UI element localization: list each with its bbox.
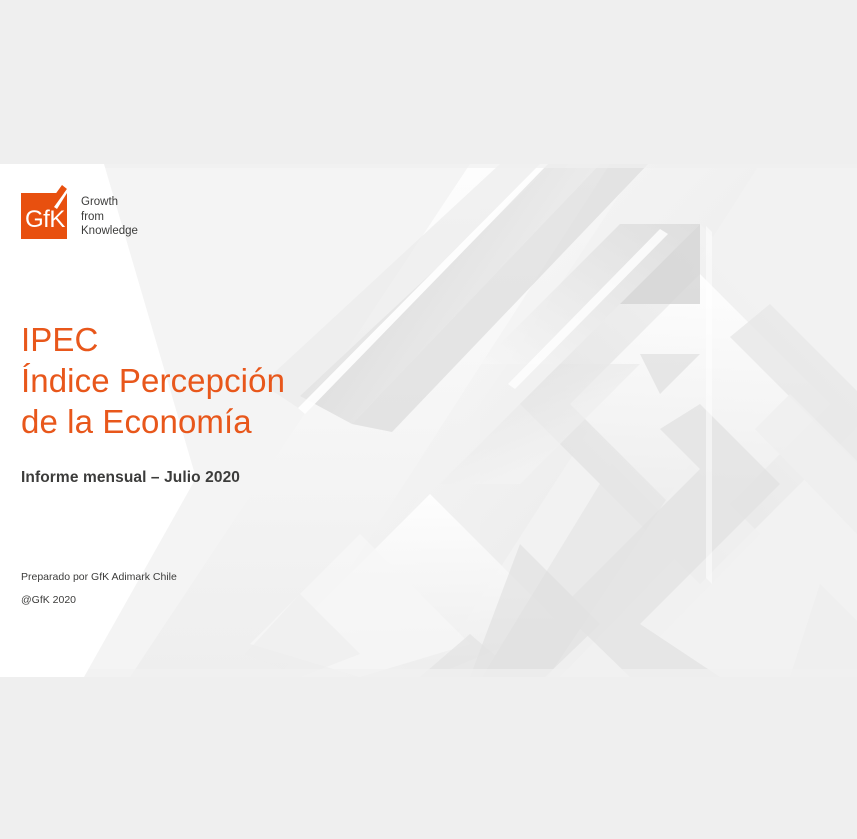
copyright-line: @GfK 2020 — [21, 589, 177, 612]
credits-block: Preparado por GfK Adimark Chile @GfK 202… — [21, 566, 177, 612]
svg-text:GfK: GfK — [25, 206, 65, 233]
gfk-claim-text: Growth from Knowledge — [81, 195, 138, 239]
gfk-logo: GfK Growth from Knowledge — [21, 193, 138, 241]
report-subtitle: Informe mensual – Julio 2020 — [21, 469, 240, 487]
title-line-1: IPEC — [21, 319, 341, 360]
slide-content: GfK Growth from Knowledge IPEC Índice Pe… — [21, 164, 341, 677]
prepared-by-line: Preparado por GfK Adimark Chile — [21, 566, 177, 589]
page-title: IPEC Índice Percepción de la Economía — [21, 319, 341, 442]
page-canvas: GfK Growth from Knowledge IPEC Índice Pe… — [0, 0, 857, 839]
title-line-2: Índice Percepción — [21, 360, 341, 401]
gfk-logo-mark-icon: GfK — [21, 193, 69, 241]
title-line-3: de la Economía — [21, 401, 341, 442]
title-slide: GfK Growth from Knowledge IPEC Índice Pe… — [0, 164, 857, 677]
